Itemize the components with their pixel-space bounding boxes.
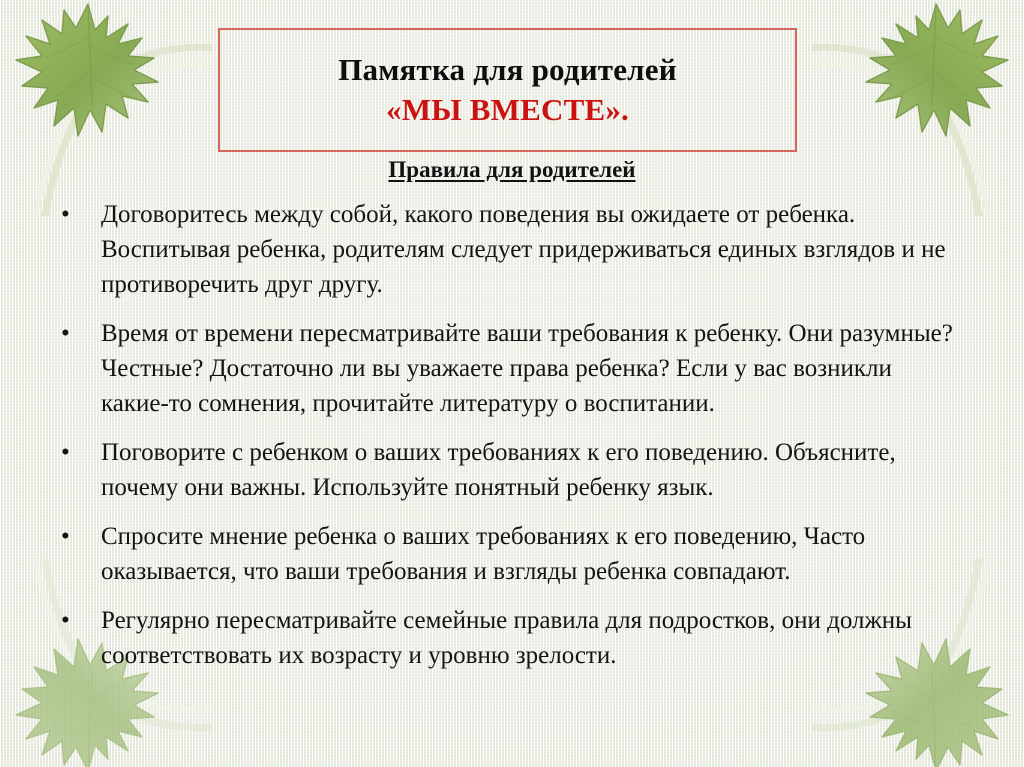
list-item-text: Регулярно пересматривайте семейные прави… xyxy=(101,607,912,669)
bullet-icon: • xyxy=(61,603,70,638)
maple-leaf-icon xyxy=(16,4,158,136)
corner-decoration-top-right xyxy=(812,0,1024,216)
list-item-text: Договоритесь между собой, какого поведен… xyxy=(101,201,946,298)
list-item: • Договоритесь между собой, какого повед… xyxy=(55,197,960,302)
list-item: • Поговорите с ребенком о ваших требован… xyxy=(55,435,960,505)
page-title-line2: «МЫ ВМЕСТЕ». xyxy=(386,92,629,128)
maple-leaf-icon xyxy=(866,4,1008,136)
slide-canvas: Памятка для родителей «МЫ ВМЕСТЕ». Прави… xyxy=(0,0,1024,767)
corner-decoration-top-left xyxy=(0,0,212,216)
vine-tendril-icon xyxy=(34,47,212,216)
list-item-text: Время от времени пересматривайте ваши тр… xyxy=(101,320,953,417)
rules-list: • Договоритесь между собой, какого повед… xyxy=(55,197,960,673)
vine-tendril-icon xyxy=(812,47,990,216)
section-subtitle: Правила для родителей xyxy=(0,157,1024,183)
bullet-icon: • xyxy=(61,316,70,351)
list-item: • Время от времени пересматривайте ваши … xyxy=(55,316,960,421)
page-title-line1: Памятка для родителей xyxy=(338,52,677,88)
bullet-icon: • xyxy=(61,519,70,554)
list-item-text: Спросите мнение ребенка о ваших требован… xyxy=(101,523,865,585)
title-box: Памятка для родителей «МЫ ВМЕСТЕ». xyxy=(218,28,797,152)
bullet-icon: • xyxy=(61,197,70,232)
list-item: • Спросите мнение ребенка о ваших требов… xyxy=(55,519,960,589)
list-item-text: Поговорите с ребенком о ваших требования… xyxy=(101,439,896,501)
list-item: • Регулярно пересматривайте семейные пра… xyxy=(55,603,960,673)
bullet-icon: • xyxy=(61,435,70,470)
